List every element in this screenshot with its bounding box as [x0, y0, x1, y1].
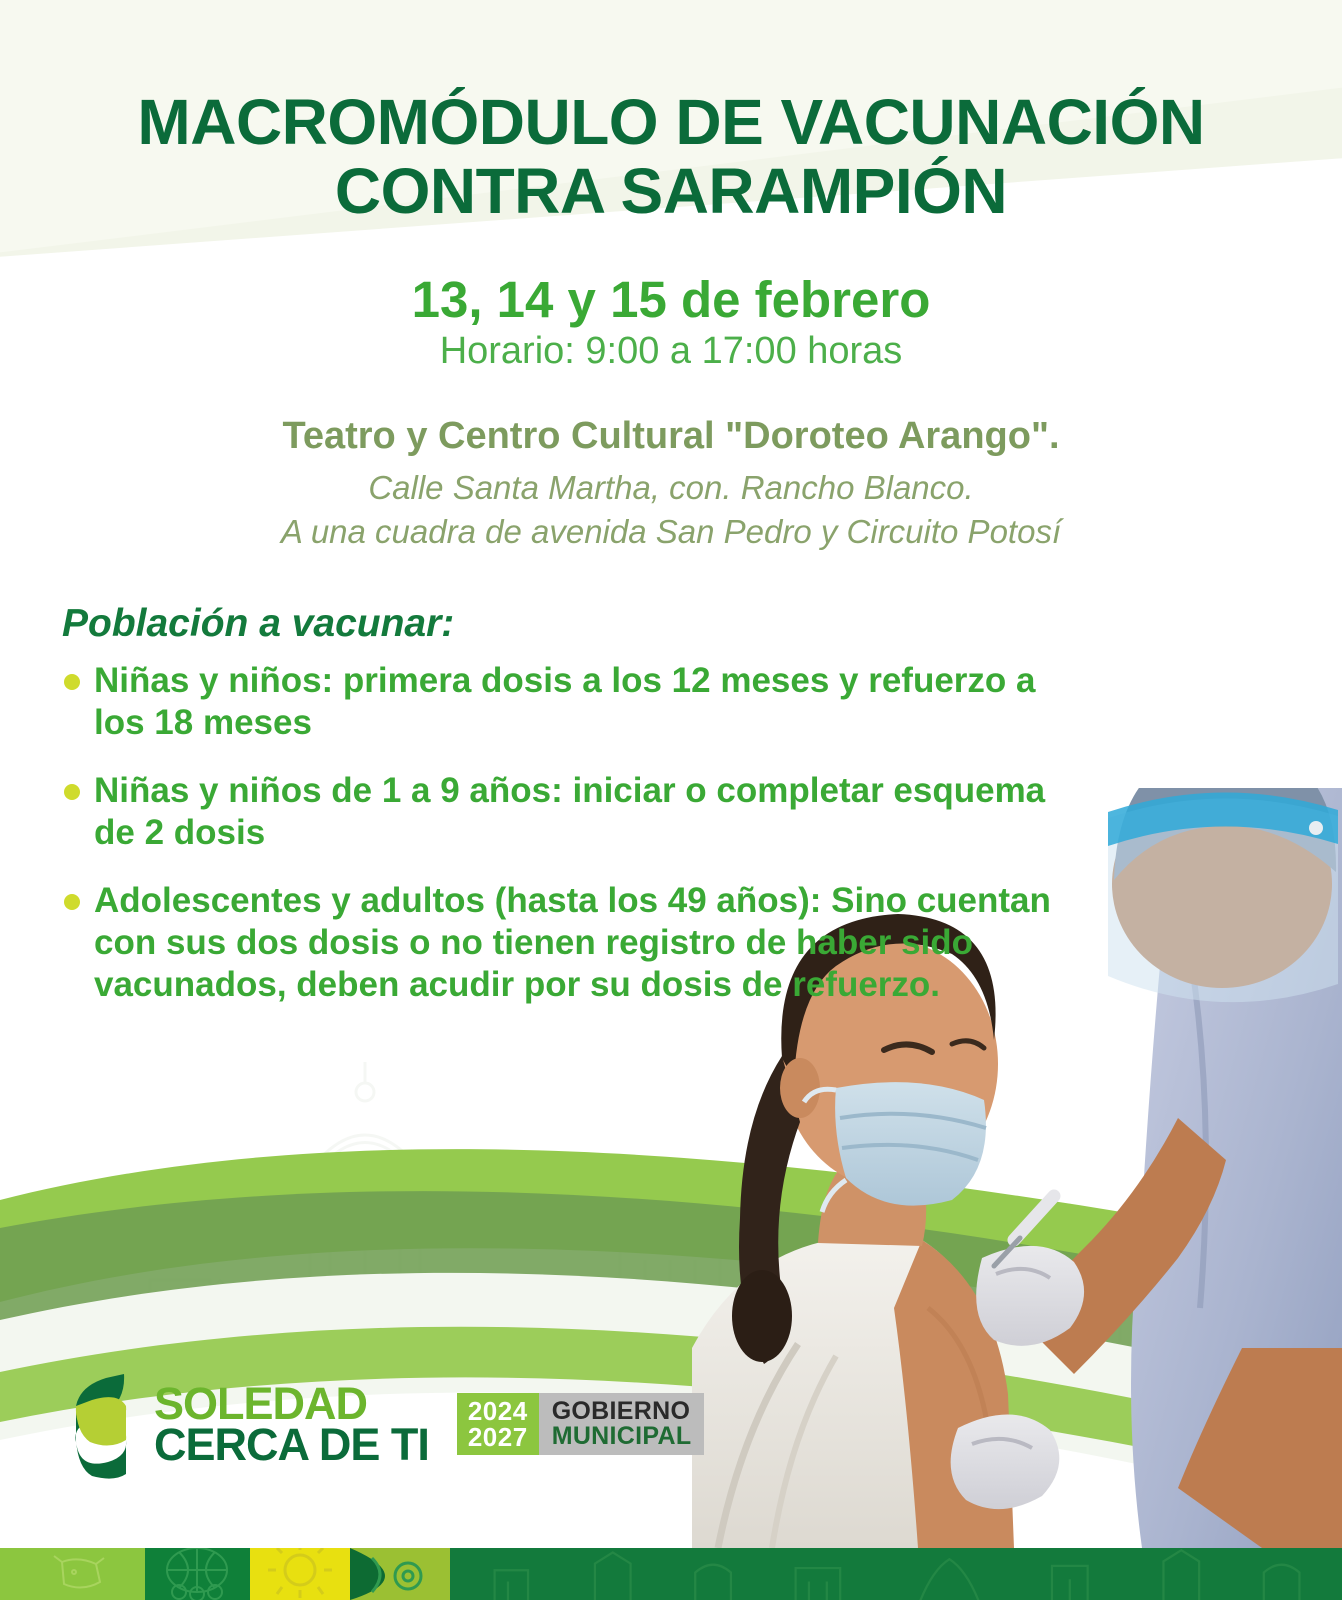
strip-segment-sun — [250, 1548, 350, 1600]
government-label: GOBIERNO MUNICIPAL — [539, 1393, 705, 1455]
soledad-s-logo-icon — [62, 1366, 140, 1482]
venue-address: Calle Santa Martha, con. Rancho Blanco. … — [0, 466, 1342, 553]
term-year-start: 2024 — [468, 1398, 528, 1424]
gov-line-2: MUNICIPAL — [552, 1424, 692, 1449]
government-badge: 2024 2027 GOBIERNO MUNICIPAL — [457, 1393, 705, 1455]
gov-line-1: GOBIERNO — [552, 1399, 692, 1424]
cow-icon — [0, 1548, 145, 1600]
list-item-text: Niñas y niños: primera dosis a los 12 me… — [94, 661, 1036, 742]
campaign-dates: 13, 14 y 15 de febrero — [0, 272, 1342, 328]
title-line-2: CONTRA SARAMPIÓN — [0, 157, 1342, 226]
venue-street: Calle Santa Martha, con. Rancho Blanco. — [0, 466, 1342, 510]
strip-segment-globe — [145, 1548, 250, 1600]
venue-name: Teatro y Centro Cultural "Doroteo Arango… — [0, 415, 1342, 458]
bullet-dot-icon — [64, 784, 80, 800]
page-title: MACROMÓDULO DE VACUNACIÓN CONTRA SARAMPI… — [0, 88, 1342, 226]
list-item: Niñas y niños: primera dosis a los 12 me… — [60, 660, 1070, 744]
title-line-1: MACROMÓDULO DE VACUNACIÓN — [0, 88, 1342, 157]
strip-segment-cow — [0, 1548, 145, 1600]
brand-name-soledad: SOLEDAD — [154, 1383, 429, 1424]
municipal-branding: SOLEDAD CERCA DE TI 2024 2027 GOBIERNO M… — [62, 1366, 704, 1482]
bullet-dot-icon — [64, 674, 80, 690]
brand-wordmark: SOLEDAD CERCA DE TI — [154, 1383, 429, 1466]
list-item: Adolescentes y adultos (hasta los 49 año… — [60, 880, 1070, 1006]
vaccination-campaign-poster: MACROMÓDULO DE VACUNACIÓN CONTRA SARAMPI… — [0, 0, 1342, 1600]
gear-icon — [350, 1548, 450, 1600]
venue-reference: A una cuadra de avenida San Pedro y Circ… — [0, 510, 1342, 554]
campaign-schedule: Horario: 9:00 a 17:00 horas — [0, 330, 1342, 374]
strip-segment-pattern — [450, 1548, 1342, 1600]
list-item-text: Niñas y niños de 1 a 9 años: iniciar o c… — [94, 771, 1045, 852]
architecture-pattern-icon — [450, 1548, 1342, 1600]
globe-icon — [145, 1548, 250, 1600]
bottom-color-strip — [0, 1548, 1342, 1600]
term-years: 2024 2027 — [457, 1393, 539, 1455]
brand-tagline: CERCA DE TI — [154, 1424, 429, 1465]
population-heading: Población a vacunar: — [62, 602, 454, 646]
sun-icon — [250, 1548, 350, 1600]
list-item-text: Adolescentes y adultos (hasta los 49 año… — [94, 881, 1051, 1004]
population-list: Niñas y niños: primera dosis a los 12 me… — [60, 660, 1070, 1032]
bullet-dot-icon — [64, 894, 80, 910]
strip-segment-gear — [350, 1548, 450, 1600]
list-item: Niñas y niños de 1 a 9 años: iniciar o c… — [60, 770, 1070, 854]
term-year-end: 2027 — [468, 1424, 528, 1450]
